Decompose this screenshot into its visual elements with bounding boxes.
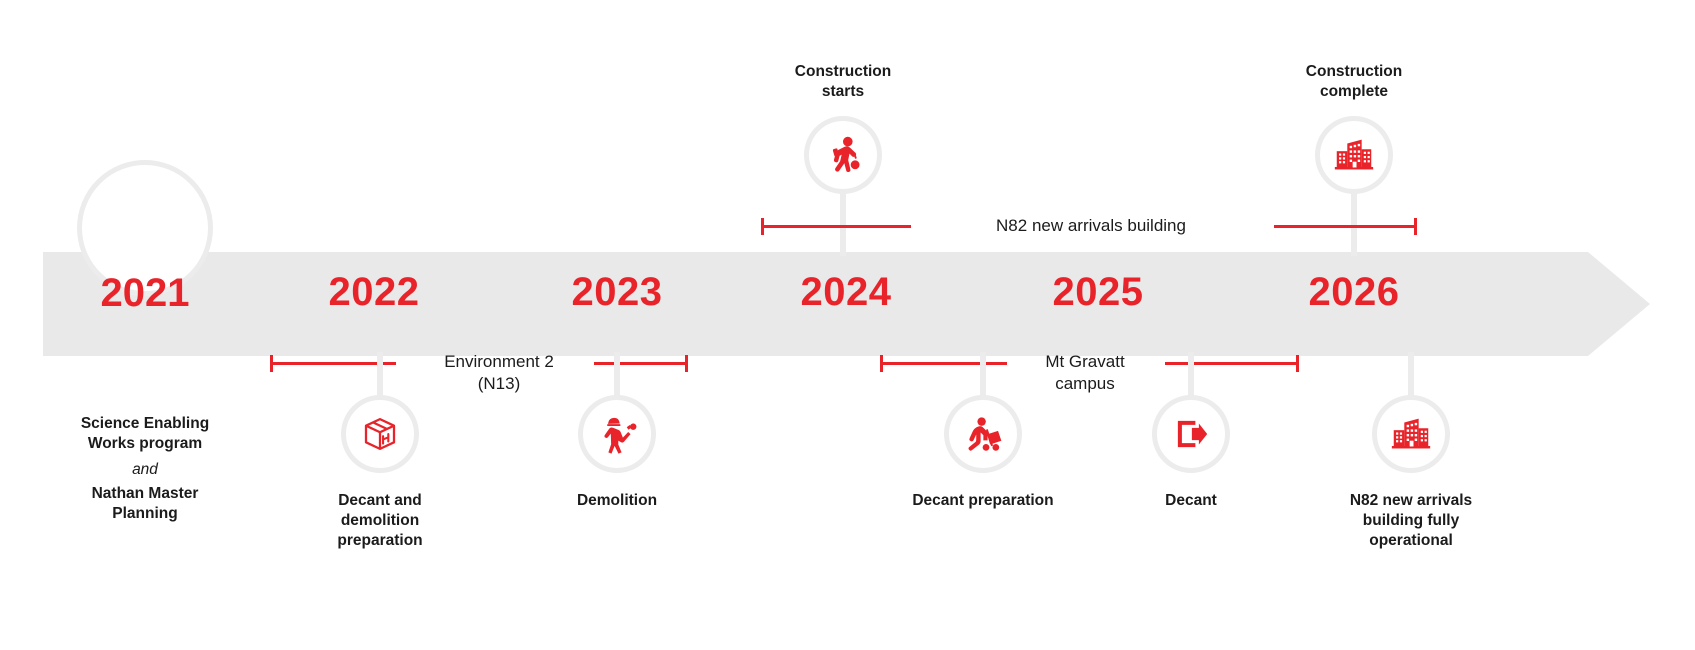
span-label-n82-new-arrivals-building: N82 new arrivals building [996,215,1186,237]
office-building-icon [1388,411,1434,457]
node-construction-complete[interactable] [1315,116,1393,194]
milestone-label-demolition: Demolition [577,491,657,511]
stem-construction-complete [1351,190,1357,256]
span-seg-right-n82 [1274,225,1416,228]
span-seg-right-mtgravatt [1165,362,1298,365]
milestone-label-n82-operational: N82 new arrivals building fully operatio… [1350,491,1472,550]
node-n82-operational[interactable] [1372,395,1450,473]
node-decant[interactable] [1152,395,1230,473]
span-label-environment-2-n13: Environment 2 (N13) [444,351,554,395]
span-seg-right-environment2 [594,362,687,365]
year-label-2021: 2021 [101,273,190,313]
year-label-2023: 2023 [572,272,663,312]
year-label-2025: 2025 [1053,272,1144,312]
intro-text-block: Science Enabling Works program and Natha… [30,414,260,524]
span-cap-right-mtgravatt [1296,355,1299,372]
year-label-2026: 2026 [1309,272,1400,312]
span-seg-left-n82 [761,225,911,228]
exit-arrow-icon [1170,413,1212,455]
demolition-worker-icon [595,412,639,456]
year-label-2022: 2022 [329,272,420,312]
span-label-mt-gravatt-campus: Mt Gravatt campus [1045,351,1124,395]
node-demolition[interactable] [578,395,656,473]
milestone-label-construction-complete: Construction complete [1306,62,1402,102]
milestone-label-decant: Decant [1165,491,1217,511]
node-decant-demolition-prep[interactable] [341,395,419,473]
stem-construction-starts [840,190,846,256]
span-cap-right-environment2 [685,355,688,372]
intro-line-4: Planning [30,504,260,524]
timeline-infographic: 2022 2023 2024 2025 2026 2021 Science En… [0,0,1695,650]
intro-connector: and [30,460,260,480]
intro-line-1: Science Enabling [30,414,260,434]
year-label-2024: 2024 [801,272,892,312]
intro-line-2: Works program [30,434,260,454]
package-box-icon [359,413,401,455]
hand-truck-icon [961,412,1005,456]
office-building-icon [1331,132,1377,178]
milestone-label-construction-starts: Construction starts [795,62,891,102]
node-construction-starts[interactable] [804,116,882,194]
milestone-label-decant-demolition-prep: Decant and demolition preparation [337,491,422,550]
span-seg-left-mtgravatt [880,362,1007,365]
construction-worker-icon [820,132,866,178]
milestone-label-decant-preparation: Decant preparation [912,491,1053,511]
span-cap-right-n82 [1414,218,1417,235]
intro-line-3: Nathan Master [30,484,260,504]
node-decant-preparation[interactable] [944,395,1022,473]
